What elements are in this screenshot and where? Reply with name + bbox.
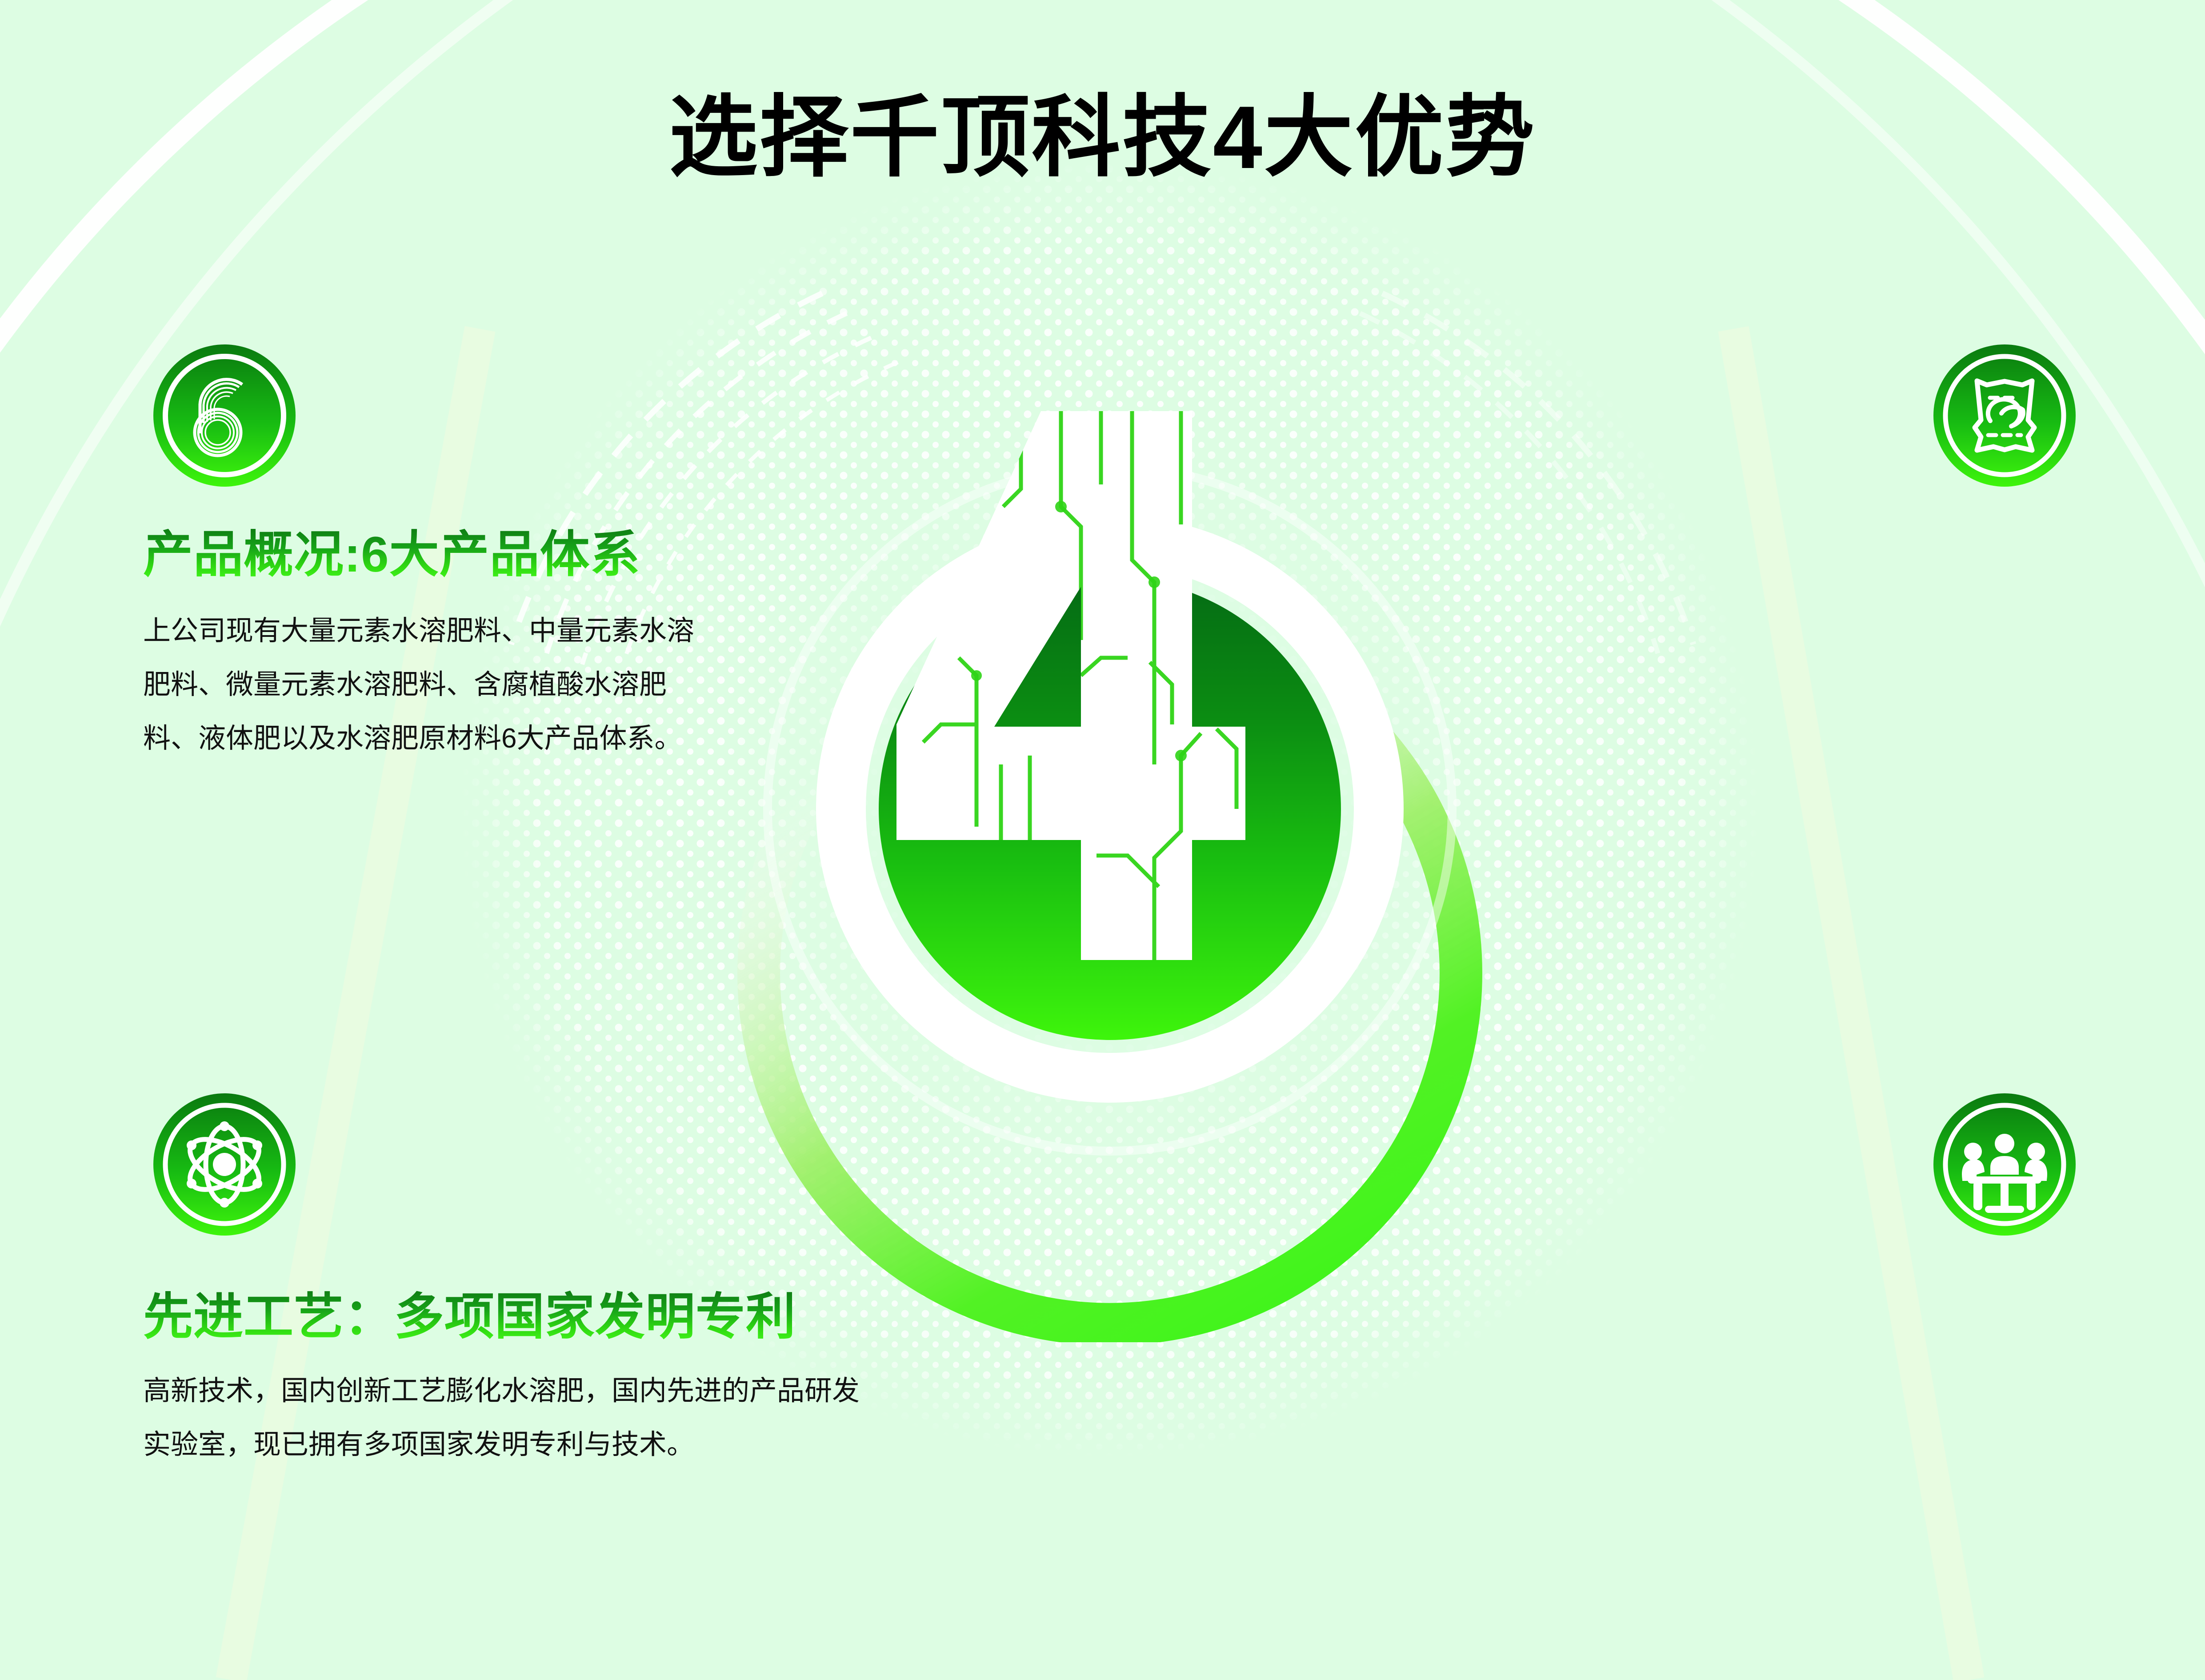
fertilizer-bag-icon (1931, 342, 2078, 489)
advantage-heading: 先进工艺：多项国家发明专利 (143, 1289, 796, 1344)
infographic-canvas: 选择千顶科技4大优势 (0, 0, 2205, 1680)
advantage-heading: 产品概况:6大产品体系 (143, 527, 640, 582)
page-title: 选择千顶科技4大优势 (0, 91, 2205, 184)
center-medallion (710, 276, 1510, 1342)
number-six-circle-icon (151, 342, 298, 489)
meeting-people-icon (1931, 1091, 2078, 1238)
advantage-body: 上公司现有大量元素水溶肥料、中量元素水溶肥料、微量元素水溶肥料、含腐植酸水溶肥料… (143, 604, 694, 766)
advantage-body: 高新技术，国内创新工艺膨化水溶肥，国内先进的产品研发实验室，现已拥有多项国家发明… (143, 1364, 872, 1472)
atom-icon (151, 1091, 298, 1238)
